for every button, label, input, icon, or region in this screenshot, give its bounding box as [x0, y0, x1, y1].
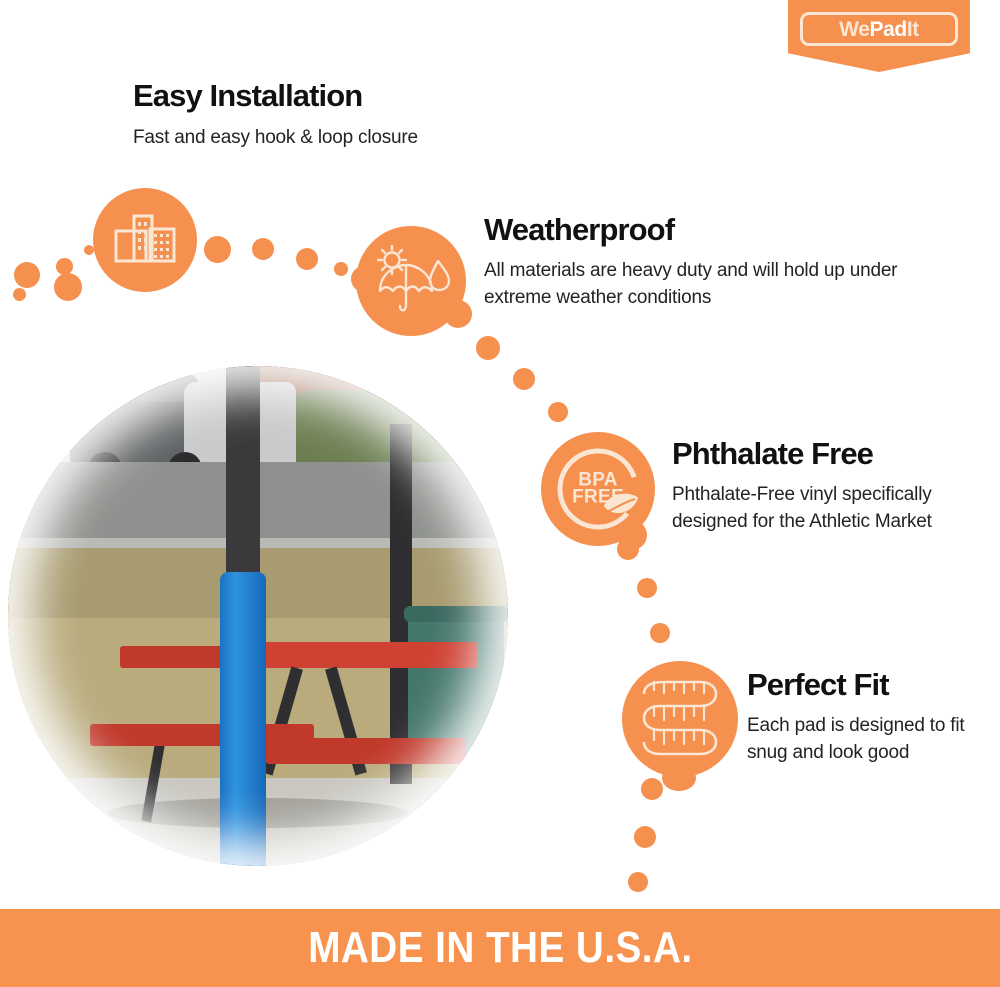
- brand-logo-pad: Pad: [869, 18, 906, 41]
- icon-blob: [444, 300, 472, 328]
- bpa-free-leaf-icon: BPA FREE: [541, 432, 655, 546]
- trail-dot: [650, 623, 670, 643]
- brand-logo-text: WePadIt: [839, 19, 919, 40]
- trail-dot: [513, 368, 535, 390]
- measuring-tape-glyph: [638, 676, 722, 762]
- measuring-tape-icon: [622, 661, 738, 777]
- trail-dot: [476, 336, 500, 360]
- trail-dot: [54, 273, 82, 301]
- trail-dot: [637, 578, 657, 598]
- sun-umbrella-raindrop-icon: [356, 226, 466, 336]
- trail-dot: [14, 262, 40, 288]
- feature-title-easy-installation: Easy Installation: [133, 80, 362, 113]
- icon-blob: [351, 266, 377, 292]
- made-in-usa-banner: MADE IN THE U.S.A.: [0, 909, 1000, 987]
- trail-dot: [252, 238, 274, 260]
- feature-description-easy-installation: Fast and easy hook & loop closure: [133, 125, 553, 152]
- brand-logo-banner: WePadIt: [788, 0, 970, 72]
- feature-description-weatherproof: All materials are heavy duty and will ho…: [484, 258, 904, 312]
- trail-dot: [334, 262, 348, 276]
- trail-dot: [13, 288, 26, 301]
- made-in-usa-label: MADE IN THE U.S.A.: [308, 923, 692, 973]
- brand-logo-we: We: [839, 18, 869, 41]
- bpa-free-ring-glyph: [541, 432, 655, 546]
- feature-title-weatherproof: Weatherproof: [484, 214, 674, 247]
- trail-dot: [204, 236, 231, 263]
- buildings-icon-glyph: [114, 213, 176, 267]
- product-photo: [8, 366, 508, 866]
- brand-logo-it: It: [907, 18, 919, 41]
- feature-description-phthalate-free: Phthalate-Free vinyl specifically design…: [672, 482, 934, 536]
- trail-dot: [296, 248, 318, 270]
- trail-dot: [628, 872, 648, 892]
- feature-title-perfect-fit: Perfect Fit: [747, 669, 889, 702]
- photo-vignette: [8, 366, 508, 866]
- brand-logo-pill: WePadIt: [800, 12, 958, 46]
- sun-umbrella-raindrop-glyph: [372, 245, 450, 317]
- trail-dot: [641, 778, 663, 800]
- trail-dot: [548, 402, 568, 422]
- feature-title-phthalate-free: Phthalate Free: [672, 438, 873, 471]
- infographic-page: WePadIt Easy Installation Fast and easy …: [0, 0, 1000, 987]
- trail-dot: [634, 826, 656, 848]
- icon-blob: [662, 765, 696, 791]
- buildings-icon: [93, 188, 197, 292]
- feature-description-perfect-fit: Each pad is designed to fit snug and loo…: [747, 713, 972, 767]
